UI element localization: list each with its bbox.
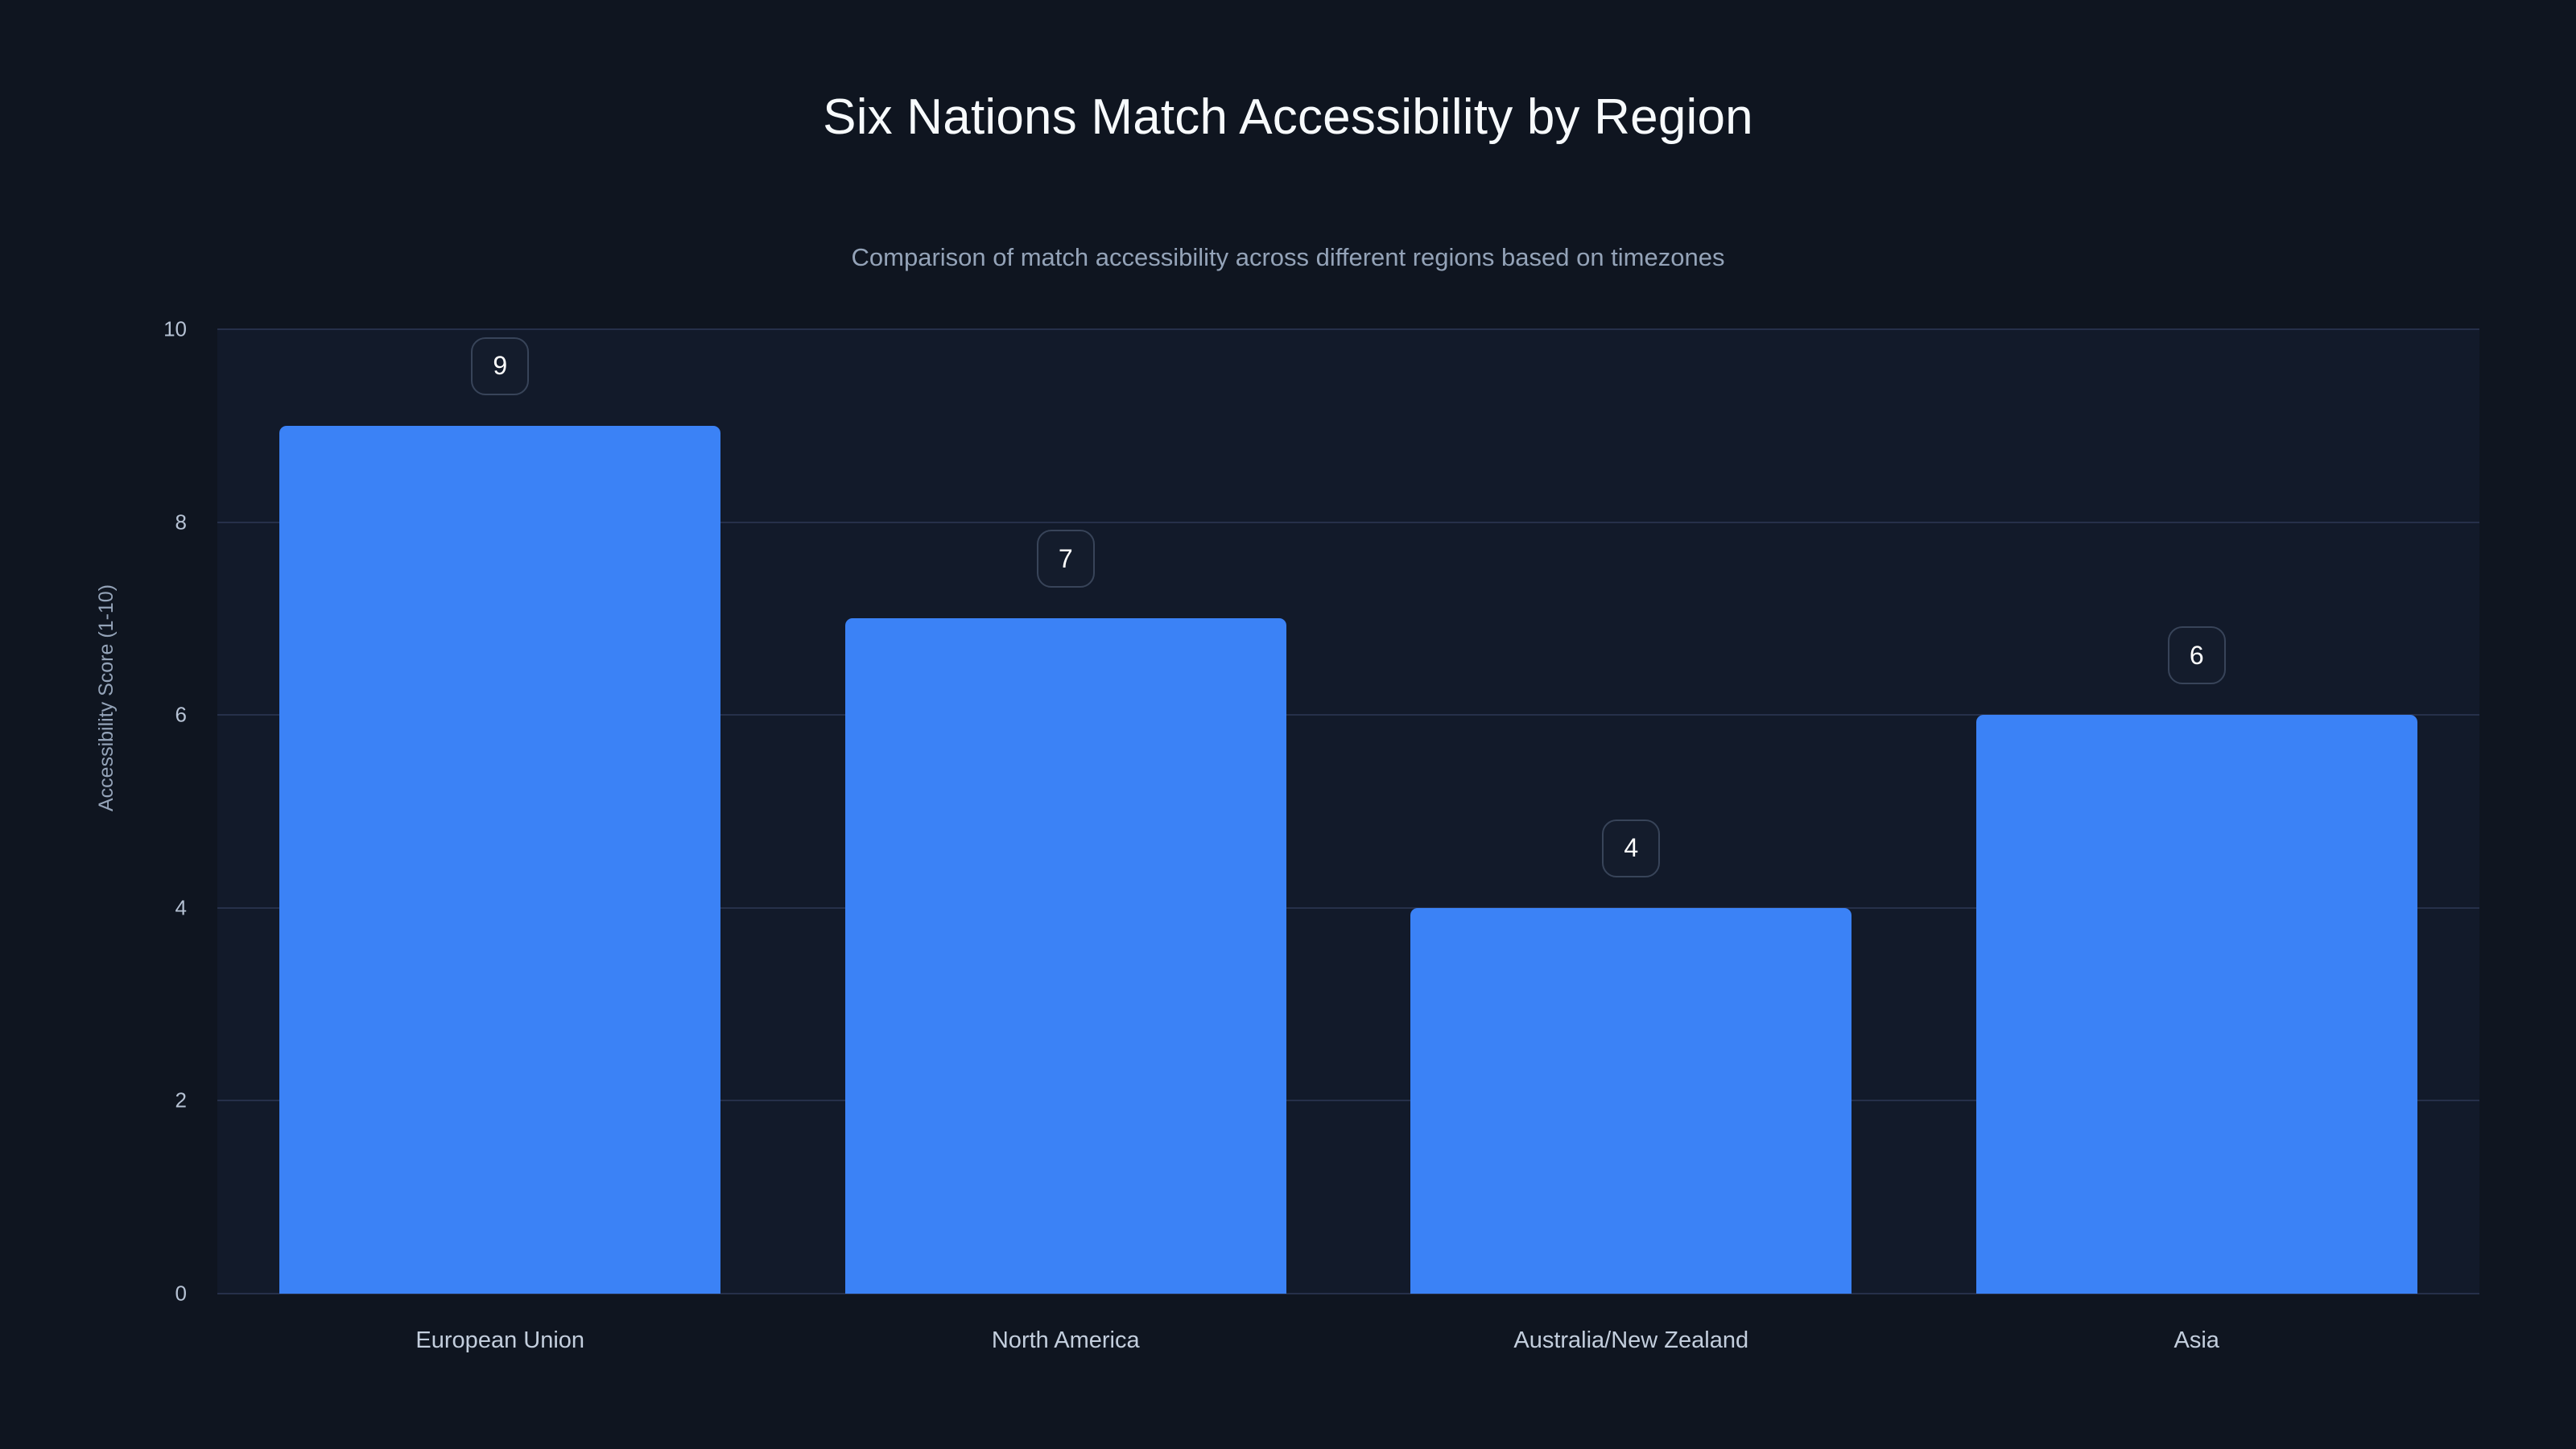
- y-axis-tick-label: 0: [90, 1282, 187, 1307]
- bar[interactable]: [279, 426, 720, 1294]
- x-axis-category-label: Asia: [2174, 1327, 2219, 1354]
- y-axis-title: Accessibility Score (1-10): [95, 584, 118, 811]
- bar-group: 7North America: [845, 329, 1286, 1294]
- bar-group: 4Australia/New Zealand: [1410, 329, 1851, 1294]
- x-axis-category-label: North America: [992, 1327, 1140, 1354]
- bar-value-badge: 9: [471, 337, 529, 395]
- bar[interactable]: [1410, 908, 1851, 1294]
- x-axis-category-label: Australia/New Zealand: [1513, 1327, 1748, 1354]
- bar-group: 9European Union: [279, 329, 720, 1294]
- bar-chart: Six Nations Match Accessibility by Regio…: [0, 0, 2576, 1449]
- y-axis-tick-label: 6: [90, 703, 187, 728]
- bar-group: 6Asia: [1976, 329, 2417, 1294]
- y-axis-tick-label: 2: [90, 1088, 187, 1113]
- bar-value-badge: 4: [1602, 819, 1660, 877]
- y-axis-tick-label: 4: [90, 895, 187, 920]
- bar-value-badge: 7: [1037, 530, 1095, 588]
- y-axis-tick-label: 8: [90, 510, 187, 535]
- bar-value-badge: 6: [2168, 626, 2226, 684]
- x-axis-category-label: European Union: [415, 1327, 584, 1354]
- bar[interactable]: [845, 618, 1286, 1294]
- chart-subtitle: Comparison of match accessibility across…: [0, 243, 2576, 272]
- bar[interactable]: [1976, 715, 2417, 1294]
- chart-title: Six Nations Match Accessibility by Regio…: [0, 89, 2576, 146]
- plot-area: 0246810 9European Union7North America4Au…: [217, 329, 2479, 1294]
- y-axis-tick-label: 10: [90, 317, 187, 342]
